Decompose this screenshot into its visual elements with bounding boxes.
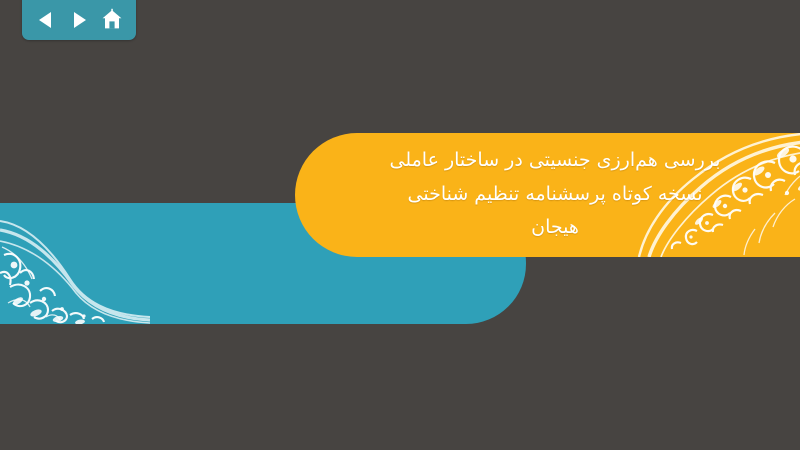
- title-banner: بررسی هم‌ارزی جنسیتی در ساختار عاملی نسخ…: [295, 133, 800, 257]
- arabesque-ornament-icon: [0, 203, 150, 324]
- triangle-right-icon: [68, 9, 90, 31]
- title-line-3: هیجان: [531, 211, 579, 244]
- slide-title: بررسی هم‌ارزی جنسیتی در ساختار عاملی نسخ…: [295, 133, 800, 257]
- previous-slide-button[interactable]: [33, 7, 59, 33]
- home-icon: [100, 8, 124, 32]
- presentation-slide: بررسی هم‌ارزی جنسیتی در ساختار عاملی نسخ…: [0, 0, 800, 450]
- triangle-left-icon: [35, 9, 57, 31]
- next-slide-button[interactable]: [66, 7, 92, 33]
- navigation-bar: [22, 0, 136, 40]
- title-line-2: نسخه کوتاه پرسشنامه تنظیم شناختی: [408, 178, 703, 211]
- title-line-1: بررسی هم‌ارزی جنسیتی در ساختار عاملی: [390, 144, 721, 177]
- home-button[interactable]: [99, 7, 125, 33]
